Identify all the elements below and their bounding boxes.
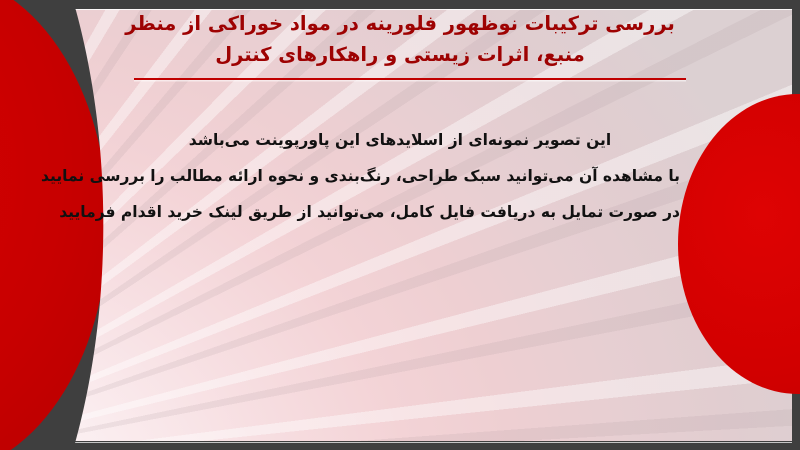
slide-title: بررسی ترکیبات نوظهور فلورینه در مواد خور… [118, 8, 682, 70]
slide-title-line-2: منبع، اثرات زیستی و راهکارهای کنترل [118, 39, 682, 70]
slide-body-text: این تصویر نمونه‌ای از اسلایدهای این پاور… [120, 122, 680, 230]
body-line-2: با مشاهده آن می‌توانید سبک طراحی، رنگ‌بن… [120, 158, 680, 194]
title-underline-rule [134, 78, 686, 80]
body-line-1: این تصویر نمونه‌ای از اسلایدهای این پاور… [120, 122, 680, 158]
slide-title-line-1: بررسی ترکیبات نوظهور فلورینه در مواد خور… [118, 8, 682, 39]
presentation-slide: بررسی ترکیبات نوظهور فلورینه در مواد خور… [0, 0, 800, 450]
body-line-3: در صورت تمایل به دریافت فایل کامل، می‌تو… [120, 194, 680, 230]
